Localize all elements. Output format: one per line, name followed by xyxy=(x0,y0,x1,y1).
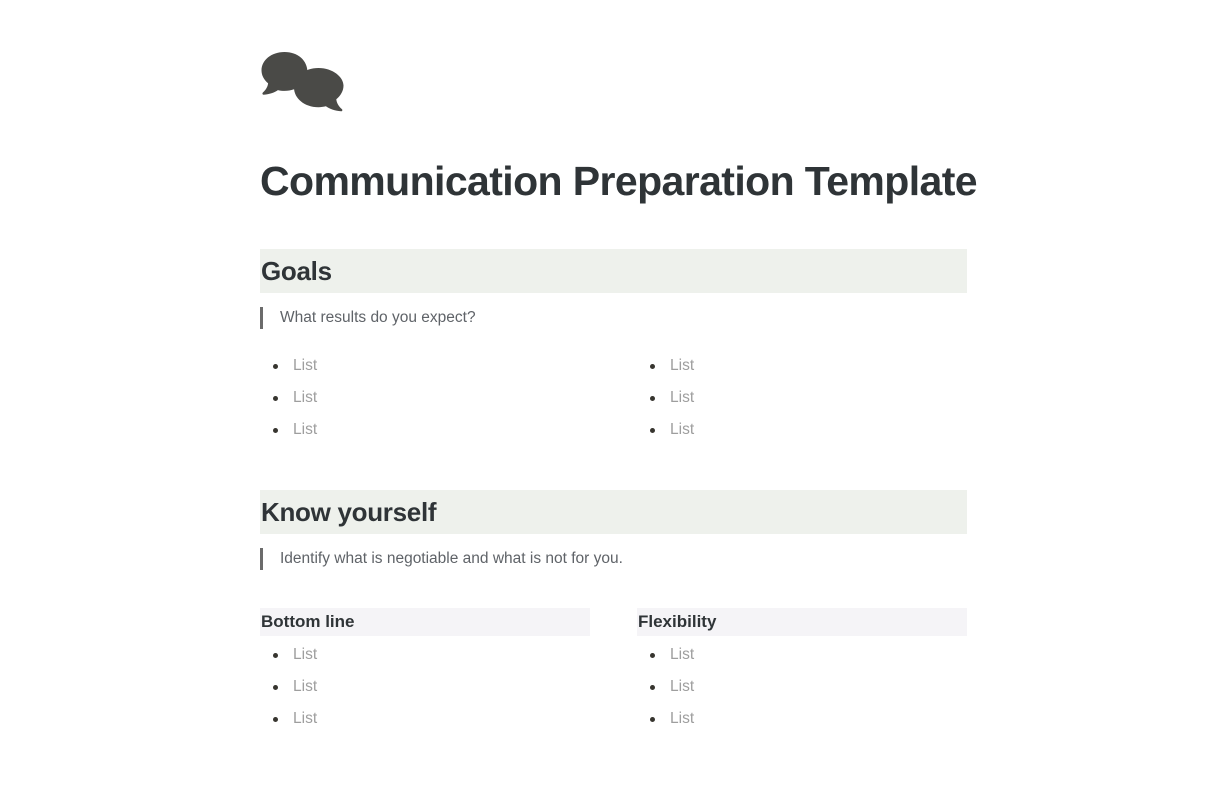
list-item[interactable]: List xyxy=(637,671,967,703)
section-quote-goals: What results do you expect? xyxy=(260,306,967,330)
bullet-icon xyxy=(273,653,278,658)
list-item[interactable]: List xyxy=(260,350,590,382)
list-item[interactable]: List xyxy=(637,414,967,446)
subsection-title: Bottom line xyxy=(260,611,355,633)
list-item-label: List xyxy=(670,676,694,698)
quote-text: Identify what is negotiable and what is … xyxy=(280,548,623,570)
document-page: Communication Preparation Template Goals… xyxy=(0,0,1223,798)
subsection-title: Flexibility xyxy=(637,611,716,633)
list-item-label: List xyxy=(670,355,694,377)
subsection-header-flexibility: Flexibility xyxy=(637,608,967,636)
list-item[interactable]: List xyxy=(637,639,967,671)
list-item-label: List xyxy=(293,355,317,377)
bullet-icon xyxy=(273,717,278,722)
bullet-icon xyxy=(273,364,278,369)
list-item-label: List xyxy=(293,387,317,409)
section-header-goals: Goals xyxy=(260,249,967,293)
list-item[interactable]: List xyxy=(260,703,590,735)
list-item[interactable]: List xyxy=(637,350,967,382)
list-item-label: List xyxy=(293,419,317,441)
goals-right-column: List List List xyxy=(637,350,967,446)
bullet-icon xyxy=(273,685,278,690)
list-item-label: List xyxy=(670,644,694,666)
bullet-icon xyxy=(650,685,655,690)
page-title: Communication Preparation Template xyxy=(260,156,1060,206)
list-item-label: List xyxy=(670,708,694,730)
bullet-icon xyxy=(650,717,655,722)
list-item[interactable]: List xyxy=(637,703,967,735)
bullet-icon xyxy=(650,653,655,658)
list-item-label: List xyxy=(293,644,317,666)
bullet-icon xyxy=(273,428,278,433)
quote-text: What results do you expect? xyxy=(280,307,476,329)
speech-bubbles-icon[interactable] xyxy=(260,52,346,114)
subsection-header-bottom-line: Bottom line xyxy=(260,608,590,636)
list-item[interactable]: List xyxy=(260,414,590,446)
bottom-line-column: List List List xyxy=(260,639,590,735)
flexibility-column: List List List xyxy=(637,639,967,735)
quote-bar xyxy=(260,307,263,329)
bullet-icon xyxy=(273,396,278,401)
list-item-label: List xyxy=(293,708,317,730)
quote-bar xyxy=(260,548,263,570)
bullet-icon xyxy=(650,428,655,433)
section-quote-know-yourself: Identify what is negotiable and what is … xyxy=(260,547,967,571)
section-title: Know yourself xyxy=(260,497,436,527)
list-item[interactable]: List xyxy=(260,382,590,414)
bullet-icon xyxy=(650,364,655,369)
goals-left-column: List List List xyxy=(260,350,590,446)
list-item-label: List xyxy=(670,419,694,441)
section-header-know-yourself: Know yourself xyxy=(260,490,967,534)
bullet-icon xyxy=(650,396,655,401)
list-item-label: List xyxy=(670,387,694,409)
list-item[interactable]: List xyxy=(637,382,967,414)
section-title: Goals xyxy=(260,256,332,286)
list-item[interactable]: List xyxy=(260,671,590,703)
list-item[interactable]: List xyxy=(260,639,590,671)
list-item-label: List xyxy=(293,676,317,698)
